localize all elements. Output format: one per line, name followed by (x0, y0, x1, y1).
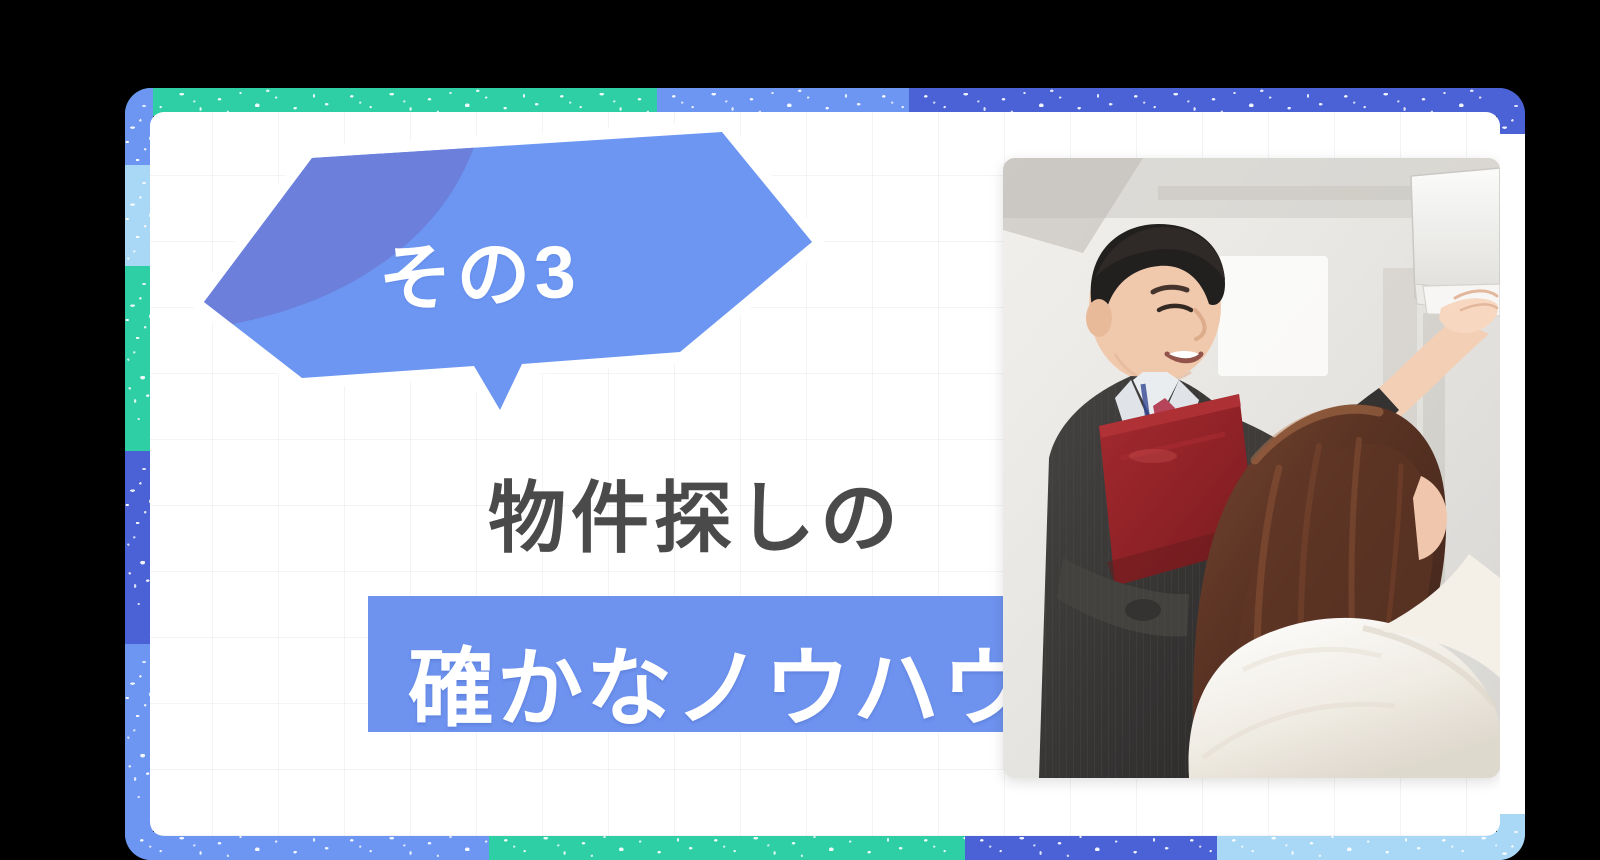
frame-right-white (1497, 134, 1525, 813)
frame-left-blue-top (125, 88, 153, 165)
frame-bottom-indigo (965, 832, 1217, 860)
step-badge-bubble: その3 (182, 120, 842, 430)
frame-bottom-blue (125, 832, 489, 860)
frame-left-teal (125, 266, 153, 451)
frame-left-indigo (125, 451, 153, 644)
frame-right-light-blue (1497, 814, 1525, 860)
speckle-texture (125, 644, 153, 860)
speckle-texture (125, 165, 153, 265)
frame-right-indigo (1497, 88, 1525, 134)
headline-line-1: 物件探しの (488, 456, 903, 568)
speckle-texture (125, 88, 153, 165)
frame-bottom-teal (489, 832, 965, 860)
speckle-texture (125, 451, 153, 644)
speckle-texture (1497, 814, 1525, 860)
frame-bottom-light-blue (1217, 832, 1525, 860)
frame-left-blue-bottom (125, 644, 153, 860)
step-badge-label: その3 (376, 211, 582, 327)
speckle-texture (965, 832, 1217, 860)
speckle-texture (125, 832, 489, 860)
hero-photo (1003, 158, 1500, 778)
slide-root: 物件探しの 確かなノウハウ (0, 0, 1600, 860)
headline-line-2: 確かなノウハウ (408, 618, 1031, 743)
speckle-texture (1497, 88, 1525, 134)
speckle-texture (125, 266, 153, 451)
speckle-texture (1217, 832, 1525, 860)
frame-left-light-blue (125, 165, 153, 265)
speckle-texture (489, 832, 965, 860)
content-card: 物件探しの 確かなノウハウ (150, 112, 1500, 836)
